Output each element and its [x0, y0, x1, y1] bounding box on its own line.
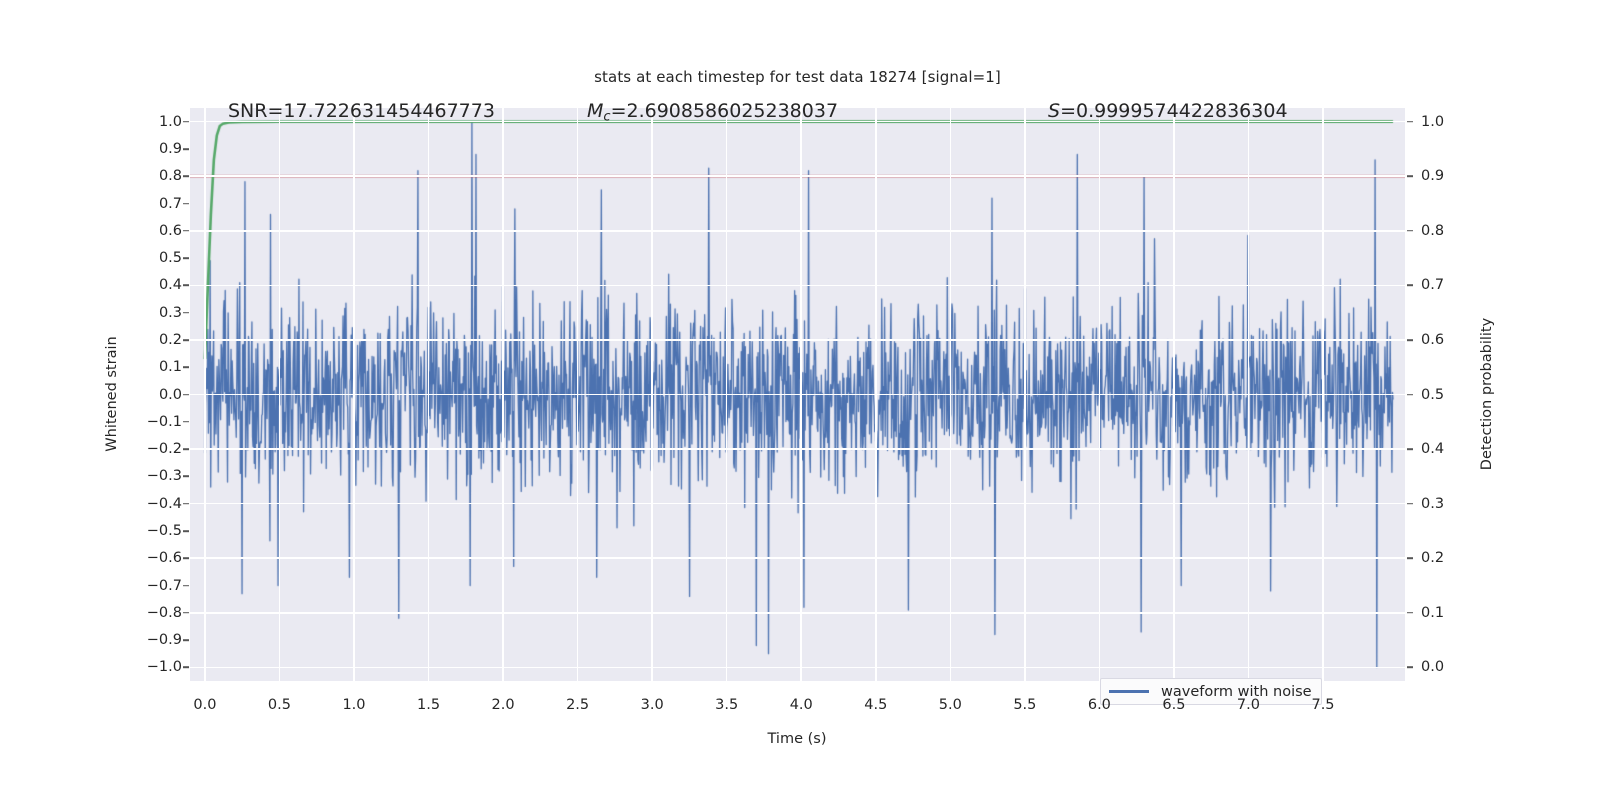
y-axis-right-tick-mark: [1407, 448, 1413, 450]
annotation-score-equals: =: [1060, 100, 1076, 122]
y-axis-left-tick-mark: [183, 148, 189, 150]
grid-line-vertical: [1322, 108, 1324, 681]
y-axis-right-tick-mark: [1407, 503, 1413, 505]
grid-line-vertical: [651, 108, 653, 681]
annotation-chirp-mass: Mc=2.6908586025238037: [587, 100, 838, 125]
y-axis-left-tick-mark: [183, 503, 189, 505]
y-axis-left-tick-label: 0.5: [138, 250, 182, 266]
y-axis-left-tick-mark: [183, 257, 189, 259]
y-axis-left-tick-label: 0.6: [138, 223, 182, 239]
x-axis-tick-label: 4.5: [864, 697, 887, 713]
y-axis-left-tick-mark: [183, 230, 189, 232]
grid-line-horizontal: [190, 175, 1405, 177]
y-axis-left-tick-label: 0.9: [138, 141, 182, 157]
annotation-chirp-mass-equals: =: [611, 100, 627, 122]
grid-line-horizontal: [190, 448, 1405, 450]
grid-line-vertical: [1248, 108, 1250, 681]
annotation-score: S=0.9999574422836304: [1048, 100, 1288, 122]
grid-line-vertical: [353, 108, 355, 681]
y-axis-left-tick-label: −0.1: [138, 414, 182, 430]
x-axis-tick-label: 5.0: [939, 697, 962, 713]
grid-line-vertical: [1173, 108, 1175, 681]
annotation-snr-label: SNR=: [228, 100, 283, 122]
y-axis-right-tick-mark: [1407, 339, 1413, 341]
annotation-score-value: 0.9999574422836304: [1076, 100, 1288, 122]
x-axis-tick-label: 7.5: [1311, 697, 1334, 713]
x-axis-tick-label: 6.5: [1162, 697, 1185, 713]
y-axis-right-tick-label: 1.0: [1421, 114, 1444, 130]
grid-line-horizontal: [190, 503, 1405, 505]
y-axis-left-tick-label: 0.2: [138, 332, 182, 348]
y-axis-left-tick-mark: [183, 639, 189, 641]
x-axis-tick-label: 4.0: [790, 697, 813, 713]
y-axis-left-tick-label: 0.3: [138, 305, 182, 321]
grid-line-vertical: [1099, 108, 1101, 681]
y-axis-left-tick-mark: [183, 612, 189, 614]
y-axis-left-label: Whitened strain: [104, 336, 120, 451]
annotation-score-symbol: S: [1048, 100, 1060, 122]
y-axis-right-tick-label: 0.6: [1421, 332, 1444, 348]
y-axis-left-tick-label: −0.7: [138, 578, 182, 594]
y-axis-right-tick-mark: [1407, 612, 1413, 614]
y-axis-left-tick-mark: [183, 476, 189, 478]
y-axis-left-tick-label: 1.0: [138, 114, 182, 130]
y-axis-right-tick-label: 0.4: [1421, 441, 1444, 457]
y-axis-left-tick-label: −0.2: [138, 441, 182, 457]
y-axis-left-tick-mark: [183, 448, 189, 450]
y-axis-left-tick-mark: [183, 312, 189, 314]
grid-line-vertical: [726, 108, 728, 681]
matplotlib-figure: stats at each timestep for test data 182…: [0, 0, 1600, 800]
y-axis-right-tick-mark: [1407, 285, 1413, 287]
y-axis-right-tick-label: 0.7: [1421, 277, 1444, 293]
y-axis-right-tick-mark: [1407, 394, 1413, 396]
y-axis-left-tick-label: 0.1: [138, 359, 182, 375]
y-axis-left-tick-label: −0.8: [138, 605, 182, 621]
y-axis-left-tick-label: −1.0: [138, 659, 182, 675]
annotation-chirp-mass-symbol: M: [587, 100, 603, 122]
y-axis-left-tick-label: −0.3: [138, 468, 182, 484]
x-axis-tick-label: 3.5: [715, 697, 738, 713]
y-axis-right-tick-mark: [1407, 175, 1413, 177]
grid-line-horizontal: [190, 339, 1405, 341]
x-axis-tick-label: 2.0: [492, 697, 515, 713]
grid-line-vertical: [800, 108, 802, 681]
y-axis-left-tick-label: −0.5: [138, 523, 182, 539]
y-axis-left-tick-mark: [183, 530, 189, 532]
y-axis-left-tick-mark: [183, 585, 189, 587]
y-axis-right-tick-mark: [1407, 557, 1413, 559]
grid-line-vertical: [502, 108, 504, 681]
x-axis-tick-label: 5.5: [1013, 697, 1036, 713]
annotation-snr-value: 17.722631454467773: [283, 100, 495, 122]
y-axis-left-tick-mark: [183, 285, 189, 287]
y-axis-left-tick-mark: [183, 175, 189, 177]
y-axis-left-tick-label: −0.6: [138, 550, 182, 566]
y-axis-left-tick-label: 0.8: [138, 168, 182, 184]
y-axis-left-tick-mark: [183, 339, 189, 341]
grid-line-vertical: [279, 108, 281, 681]
y-axis-right-tick-label: 0.0: [1421, 659, 1444, 675]
x-axis-tick-label: 0.5: [268, 697, 291, 713]
grid-line-horizontal: [190, 557, 1405, 559]
legend-line-icon: [1109, 690, 1149, 692]
grid-line-vertical: [950, 108, 952, 681]
y-axis-left-tick-mark: [183, 557, 189, 559]
x-axis-tick-label: 6.0: [1088, 697, 1111, 713]
y-axis-right-tick-mark: [1407, 121, 1413, 123]
grid-line-horizontal: [190, 667, 1405, 669]
y-axis-left-tick-mark: [183, 394, 189, 396]
y-axis-left-tick-mark: [183, 366, 189, 368]
grid-line-vertical: [577, 108, 579, 681]
annotation-chirp-mass-value: 2.6908586025238037: [626, 100, 838, 122]
grid-line-vertical: [1024, 108, 1026, 681]
annotation-snr: SNR=17.722631454467773: [228, 100, 495, 122]
y-axis-right-tick-mark: [1407, 667, 1413, 669]
y-axis-left-tick-mark: [183, 121, 189, 123]
y-axis-left-tick-label: 0.4: [138, 277, 182, 293]
y-axis-right-tick-label: 0.5: [1421, 387, 1444, 403]
grid-line-horizontal: [190, 612, 1405, 614]
plot-area: [190, 108, 1405, 681]
annotation-chirp-mass-subscript: c: [603, 110, 610, 125]
grid-line-horizontal: [190, 394, 1405, 396]
grid-line-horizontal: [190, 285, 1405, 287]
grid-line-horizontal: [190, 230, 1405, 232]
grid-line-vertical: [875, 108, 877, 681]
page-title: stats at each timestep for test data 182…: [190, 68, 1405, 86]
y-axis-right-label: Detection probability: [1479, 318, 1495, 470]
x-axis-label: Time (s): [768, 731, 827, 747]
legend: waveform with noise: [1100, 678, 1322, 705]
grid-line-vertical: [428, 108, 430, 681]
y-axis-left-tick-mark: [183, 421, 189, 423]
x-axis-tick-label: 1.0: [342, 697, 365, 713]
y-axis-right-tick-label: 0.9: [1421, 168, 1444, 184]
y-axis-left-tick-label: 0.7: [138, 196, 182, 212]
y-axis-left-tick-mark: [183, 667, 189, 669]
x-axis-tick-label: 3.0: [641, 697, 664, 713]
y-axis-right-tick-mark: [1407, 230, 1413, 232]
x-axis-tick-label: 2.5: [566, 697, 589, 713]
y-axis-right-tick-label: 0.3: [1421, 496, 1444, 512]
y-axis-right-tick-label: 0.1: [1421, 605, 1444, 621]
y-axis-right-tick-label: 0.8: [1421, 223, 1444, 239]
x-axis-tick-label: 0.0: [193, 697, 216, 713]
y-axis-left-tick-label: −0.4: [138, 496, 182, 512]
y-axis-right-tick-label: 0.2: [1421, 550, 1444, 566]
y-axis-left-tick-label: −0.9: [138, 632, 182, 648]
y-axis-left-tick-mark: [183, 203, 189, 205]
y-axis-left-tick-label: 0.0: [138, 387, 182, 403]
x-axis-tick-label: 7.0: [1237, 697, 1260, 713]
grid-line-vertical: [204, 108, 206, 681]
x-axis-tick-label: 1.5: [417, 697, 440, 713]
